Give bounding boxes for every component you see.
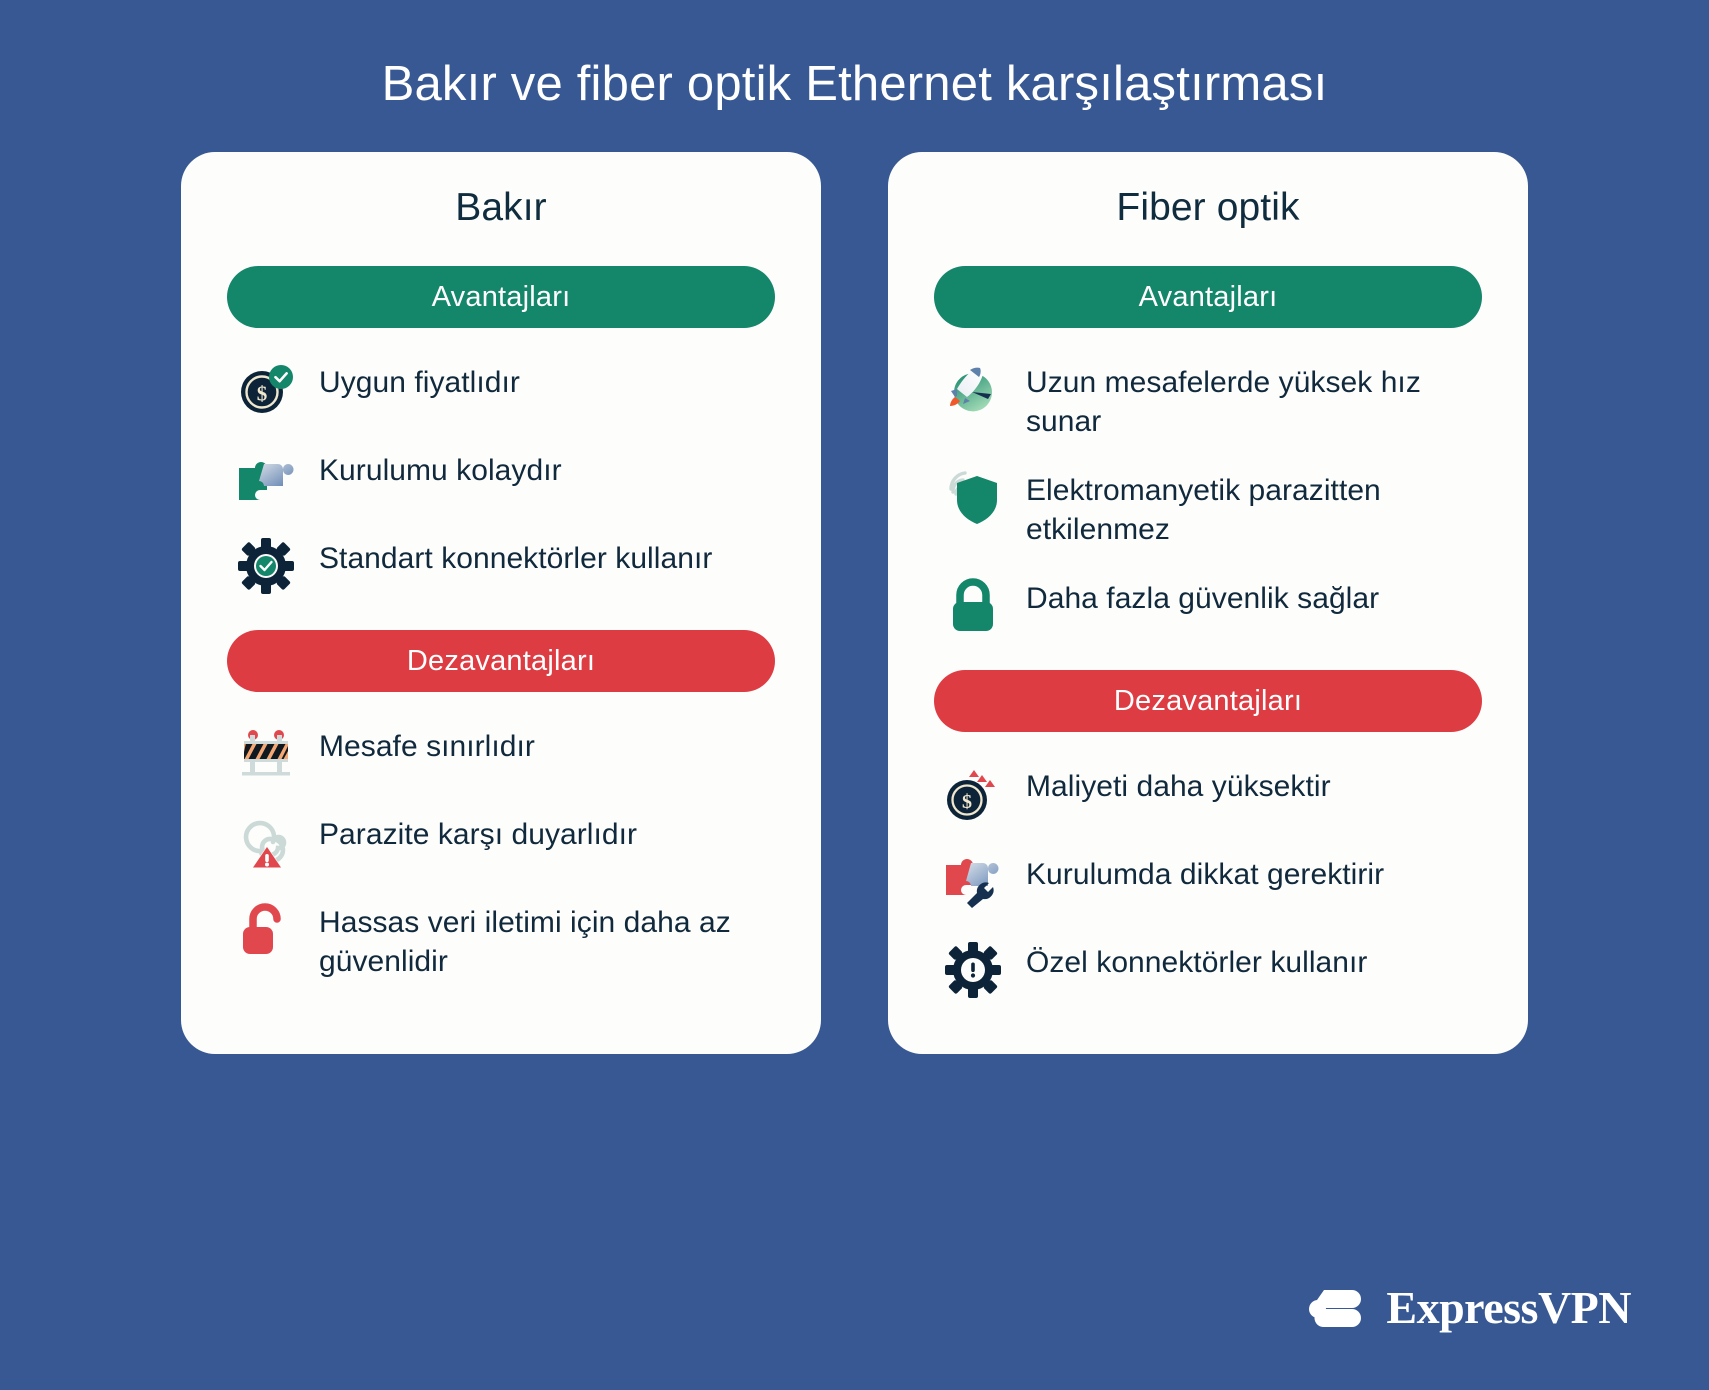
shield-signal-icon [940,467,1006,529]
page-title: Bakır ve fiber optik Ethernet karşılaştı… [0,0,1709,112]
road-barrier-icon [233,723,299,785]
list-item: Mesafe sınırlıdır [227,710,775,798]
svg-text:$: $ [962,791,972,813]
pros-header-copper: Avantajları [227,266,775,328]
pros-header-fiber: Avantajları [934,266,1482,328]
list-item-label: Uygun fiyatlıdır [319,359,520,402]
card-title-fiber: Fiber optik [934,186,1482,230]
rocket-speedometer-icon [940,359,1006,421]
list-item-label: Daha fazla güvenlik sağlar [1026,575,1379,618]
comparison-cards: Bakır Avantajları $ Uygun fiyatlıdır [0,152,1709,1054]
pros-list-fiber: Uzun mesafelerde yüksek hız sunar Elektr [934,346,1482,650]
card-copper: Bakır Avantajları $ Uygun fiyatlıdır [181,152,821,1054]
cons-header-fiber: Dezavantajları [934,670,1482,732]
list-item-label: Kurulumda dikkat gerektirir [1026,851,1384,894]
list-item: Kurulumda dikkat gerektirir [934,838,1482,926]
card-fiber: Fiber optik Avantajları [888,152,1528,1054]
puzzle-wrench-icon [940,851,1006,913]
list-item: Standart konnektörler kullanır [227,522,775,610]
list-item: Daha fazla güvenlik sağlar [934,562,1482,650]
list-item: $ Maliyeti daha yüksektir [934,750,1482,838]
locked-padlock-icon [940,575,1006,637]
list-item: Elektromanyetik parazitten etkilenmez [934,454,1482,562]
list-item-label: Mesafe sınırlıdır [319,723,535,766]
expressvpn-logo: ExpressVPN [1308,1276,1631,1338]
brand-name: ExpressVPN [1386,1281,1631,1334]
unlocked-padlock-icon [233,899,299,961]
cons-list-copper: Mesafe sınırlıdır Parazite karşı duyarlı… [227,710,775,994]
list-item-label: Özel konnektörler kullanır [1026,939,1367,982]
list-item: Kurulumu kolaydır [227,434,775,522]
list-item-label: Standart konnektörler kullanır [319,535,712,578]
gear-exclamation-icon [940,939,1006,1001]
list-item-label: Kurulumu kolaydır [319,447,562,490]
gear-check-icon [233,535,299,597]
dollar-coin-check-icon: $ [233,359,299,421]
list-item-label: Parazite karşı duyarlıdır [319,811,637,854]
card-spacer [227,994,775,1014]
cons-header-copper: Dezavantajları [227,630,775,692]
list-item-label: Maliyeti daha yüksektir [1026,763,1331,806]
puzzle-pieces-icon [233,447,299,509]
spiral-warning-icon [233,811,299,873]
list-item-label: Elektromanyetik parazitten etkilenmez [1026,467,1482,549]
pros-list-copper: $ Uygun fiyatlıdır [227,346,775,610]
card-title-copper: Bakır [227,186,775,230]
list-item: Hassas veri iletimi için daha az güvenli… [227,886,775,994]
list-item-label: Uzun mesafelerde yüksek hız sunar [1026,359,1482,441]
dollar-coin-up-arrows-icon: $ [940,763,1006,825]
list-item: $ Uygun fiyatlıdır [227,346,775,434]
list-item: Özel konnektörler kullanır [934,926,1482,1014]
list-item: Uzun mesafelerde yüksek hız sunar [934,346,1482,454]
list-item: Parazite karşı duyarlıdır [227,798,775,886]
svg-text:$: $ [257,382,268,406]
cons-list-fiber: $ Maliyeti daha yüksektir [934,750,1482,1014]
list-item-label: Hassas veri iletimi için daha az güvenli… [319,899,775,981]
expressvpn-e-logo-icon [1308,1276,1370,1338]
